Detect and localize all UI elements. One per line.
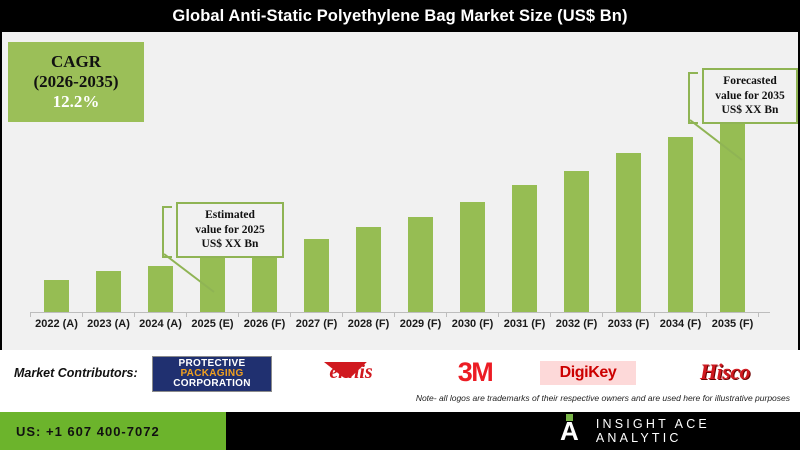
callout-estimated-line2: value for 2025 [195, 223, 264, 237]
x-axis-labels: 2022 (A)2023 (A)2024 (A)2025 (E)2026 (F)… [2, 318, 798, 342]
logo-protective-packaging-corporation: PROTECTIVE PACKAGING CORPORATION [152, 356, 272, 392]
3m-text: 3M [458, 357, 493, 388]
callout-estimated-line3: US$ XX Bn [202, 237, 259, 251]
trademark-note: Note- all logos are trademarks of their … [416, 393, 790, 403]
x-label-2031F: 2031 (F) [499, 318, 551, 330]
logo-digikey: DigiKey [540, 361, 636, 385]
x-label-2023A: 2023 (A) [83, 318, 135, 330]
callout-forecasted-line3: US$ XX Bn [722, 103, 779, 117]
x-label-2022A: 2022 (A) [31, 318, 83, 330]
callout-forecasted-line1: Forecasted [723, 74, 776, 88]
callout-estimated-2025: Estimated value for 2025 US$ XX Bn [176, 202, 284, 258]
callout-leader-lines [2, 32, 798, 350]
callout-forecasted-line2: value for 2035 [715, 89, 784, 103]
x-label-2027F: 2027 (F) [291, 318, 343, 330]
phone-number[interactable]: US: +1 607 400-7072 [16, 424, 160, 439]
callout-bracket-2025 [162, 206, 172, 258]
leader-line-2025 [164, 254, 214, 292]
x-label-2024A: 2024 (A) [135, 318, 187, 330]
screenshot-root: Global Anti-Static Polyethylene Bag Mark… [0, 0, 800, 450]
leader-line-2035 [690, 120, 742, 160]
insightace-a-icon: A [560, 418, 582, 444]
x-label-2034F: 2034 (F) [655, 318, 707, 330]
ppc-line3: CORPORATION [173, 379, 251, 389]
page-title: Global Anti-Static Polyethylene Bag Mark… [172, 7, 627, 26]
x-label-2035F: 2035 (F) [707, 318, 759, 330]
contributors-label: Market Contributors: [14, 366, 138, 380]
x-label-2033F: 2033 (F) [603, 318, 655, 330]
logo-3m: 3M [430, 356, 520, 388]
logo-hisco: Hisco [672, 356, 778, 388]
footer-bar: US: +1 607 400-7072 A INSIGHT ACE ANALYT… [0, 412, 800, 450]
logo-teknis: eknis [296, 356, 406, 388]
hisco-text: Hisco [700, 359, 750, 385]
callout-bracket-2035 [688, 72, 698, 124]
x-label-2028F: 2028 (F) [343, 318, 395, 330]
digikey-text: DigiKey [560, 364, 617, 382]
x-label-2025E: 2025 (E) [187, 318, 239, 330]
x-label-2026F: 2026 (F) [239, 318, 291, 330]
brand-name: INSIGHT ACE ANALYTIC [596, 417, 800, 445]
contributors-strip: Market Contributors: PROTECTIVE PACKAGIN… [0, 350, 800, 412]
title-bar: Global Anti-Static Polyethylene Bag Mark… [0, 0, 800, 32]
brand-a-letter: A [560, 418, 579, 444]
x-label-2032F: 2032 (F) [551, 318, 603, 330]
phone-banner: US: +1 607 400-7072 [0, 412, 226, 450]
x-label-2030F: 2030 (F) [447, 318, 499, 330]
x-label-2029F: 2029 (F) [395, 318, 447, 330]
callout-forecasted-2035: Forecasted value for 2035 US$ XX Bn [702, 68, 798, 124]
brand-lockup: A INSIGHT ACE ANALYTIC [560, 412, 800, 450]
callout-estimated-line1: Estimated [205, 208, 255, 222]
chart-panel: CAGR (2026-2035) 12.2% Estimated value f… [2, 32, 798, 350]
teknis-wordmark: eknis [329, 361, 372, 384]
